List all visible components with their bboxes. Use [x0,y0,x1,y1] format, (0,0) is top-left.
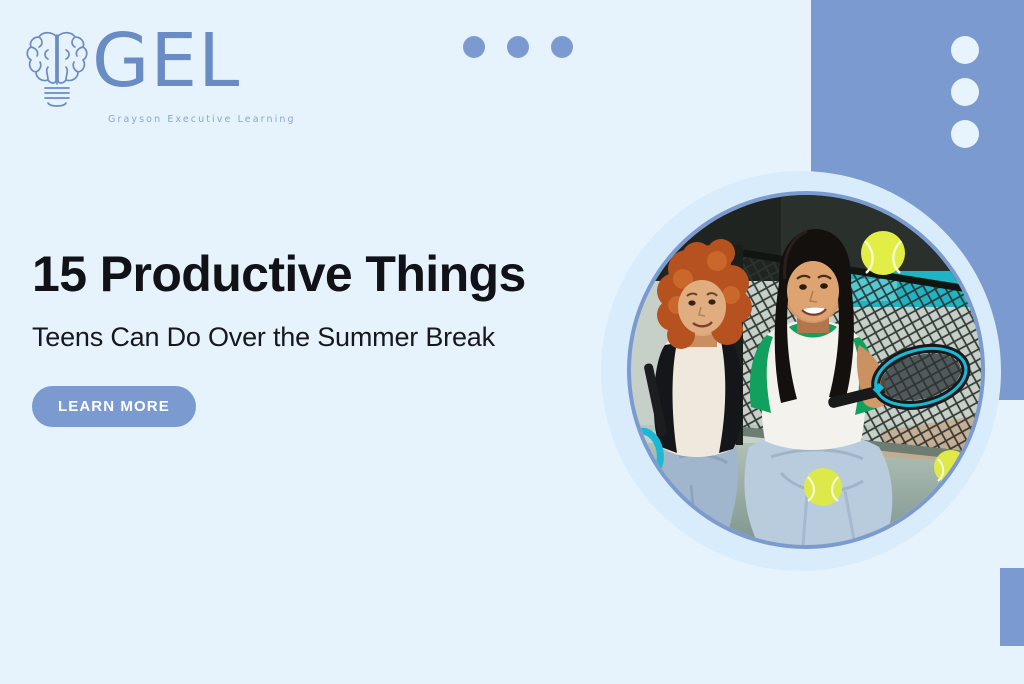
top-dot-group [463,36,573,58]
panel-dot-1 [951,36,979,64]
logo-wordmark: GEL [92,24,240,98]
brand-logo[interactable]: GEL Grayson Executive Learning [24,26,272,114]
page-subtitle: Teens Can Do Over the Summer Break [32,319,542,356]
top-dot-3 [551,36,573,58]
page-title: 15 Productive Things [32,248,592,301]
blog-banner: GEL Grayson Executive Learning 15 Produc… [0,0,1024,684]
logo-tagline: Grayson Executive Learning [108,114,296,125]
panel-dot-group [951,36,981,148]
content-block: 15 Productive Things Teens Can Do Over t… [32,248,592,427]
learn-more-button[interactable]: LEARN MORE [32,386,196,427]
panel-dot-3 [951,120,979,148]
top-dot-2 [507,36,529,58]
top-dot-1 [463,36,485,58]
panel-dot-2 [951,78,979,106]
brain-lightbulb-icon [24,26,90,110]
hero-photo [631,195,981,545]
corner-accent-square [1000,568,1024,646]
